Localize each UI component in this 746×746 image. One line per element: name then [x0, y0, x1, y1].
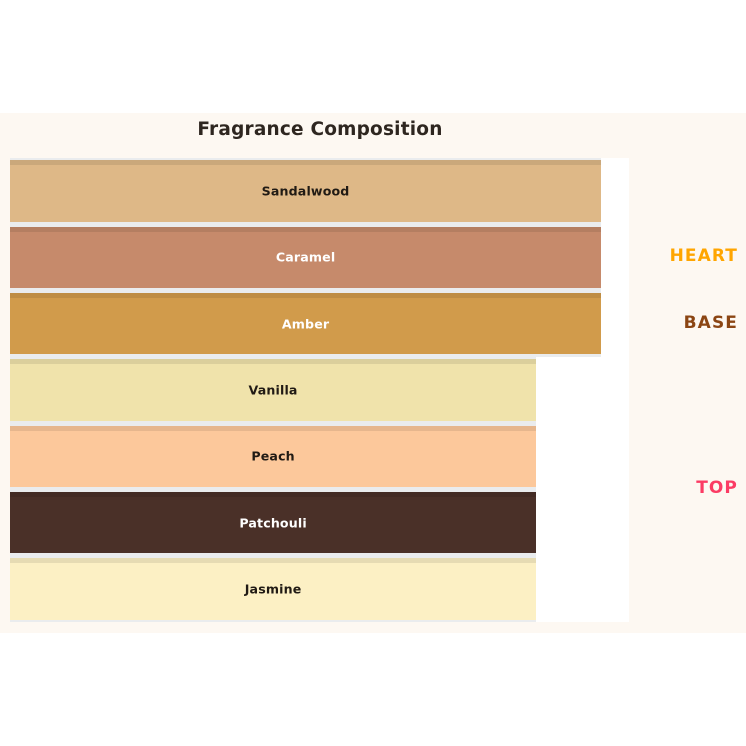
bar-jasmine[interactable]: Jasmine	[10, 558, 536, 619]
bar-label: Amber	[10, 316, 601, 331]
group-label-top: TOP	[696, 478, 738, 498]
chart-figure: Fragrance Composition SandalwoodCaramelA…	[0, 113, 746, 633]
bar-patchouli[interactable]: Patchouli	[10, 492, 536, 553]
bar-label: Peach	[10, 449, 536, 464]
bar-label: Jasmine	[10, 581, 536, 596]
bar-amber[interactable]: Amber	[10, 293, 601, 354]
bar-label: Caramel	[10, 250, 601, 265]
bar-sandalwood[interactable]: Sandalwood	[10, 160, 601, 221]
bar-peach[interactable]: Peach	[10, 426, 536, 487]
group-label-heart: HEART	[670, 246, 738, 266]
chart-title: Fragrance Composition	[0, 119, 640, 140]
group-label-base: BASE	[684, 313, 738, 333]
bar-label: Sandalwood	[10, 184, 601, 199]
bar-label: Patchouli	[10, 515, 536, 530]
bar-label: Vanilla	[10, 382, 536, 397]
plot-area: SandalwoodCaramelAmberVanillaPeachPatcho…	[10, 158, 629, 622]
bar-vanilla[interactable]: Vanilla	[10, 359, 536, 420]
bar-caramel[interactable]: Caramel	[10, 227, 601, 288]
